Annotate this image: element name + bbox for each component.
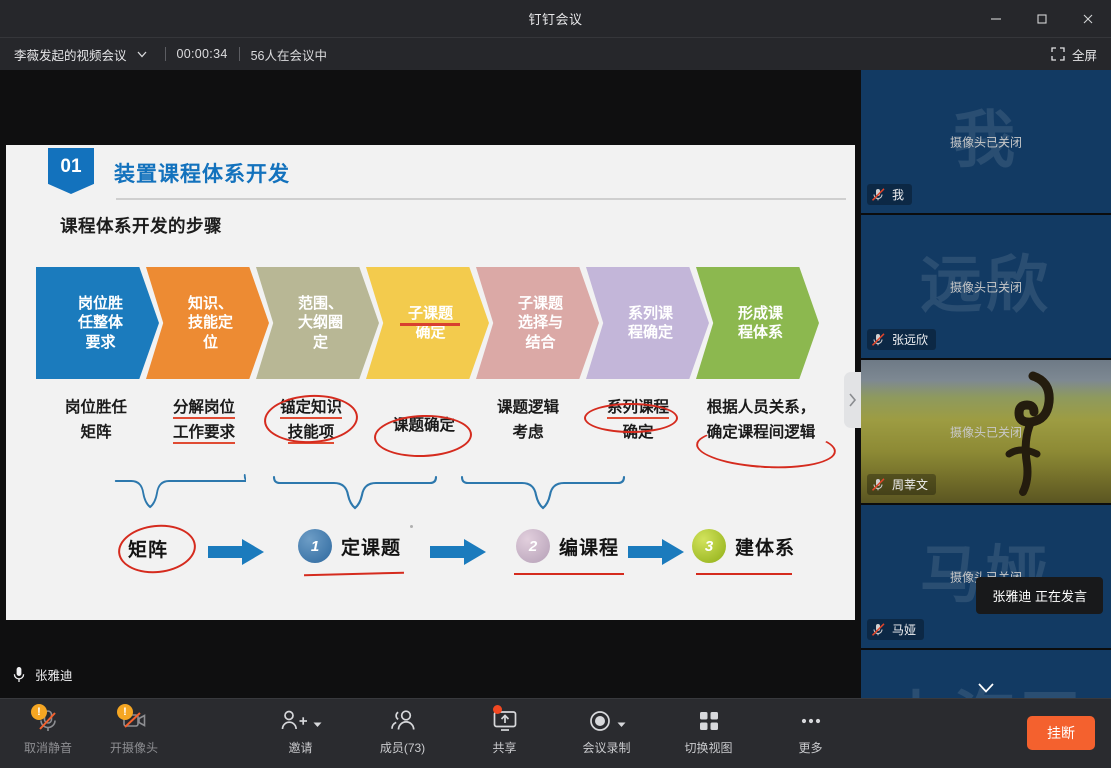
switch-view-button[interactable]: 切换视图 [673,707,745,756]
result-number-badge: 3 [692,529,726,563]
camera-off-label: 摄像头已关闭 [861,133,1111,150]
unmute-button[interactable]: ! 取消静音 [12,707,84,756]
result-item: 3 建体系 [692,529,795,563]
process-step: 子课题选择与结合 [476,267,599,379]
participant-tile[interactable]: 我 摄像头已关闭 我 [861,70,1111,215]
participant-tile[interactable]: 远欣 摄像头已关闭 张远欣 [861,215,1111,360]
process-step-label: 形成课程体系 [732,304,783,342]
process-step-label: 范围、大纲圈定 [292,294,343,352]
minimize-button[interactable] [973,0,1019,38]
title-underline-rule [116,198,846,200]
process-step-label: 系列课程确定 [622,304,673,342]
meeting-timer: 00:00:34 [177,47,228,61]
app-title: 钉钉会议 [528,9,582,28]
slide-header: 01 装置课程体系开发 [48,148,290,194]
process-step: 系列课程确定 [586,267,709,379]
participant-name-chip: 周莘文 [867,474,936,495]
result-label: 定课题 [341,533,401,560]
invite-icon [280,707,322,734]
scroll-down-chevron-icon[interactable] [976,681,996,693]
participant-strip[interactable]: 我 摄像头已关闭 我 远欣 摄像头已关闭 [861,70,1111,698]
process-step: 岗位胜任整体要求 [36,267,159,379]
toolbar-center-group: 邀请 成员(73) [265,707,847,756]
blue-brace-annotation [270,473,440,515]
meeting-name: 李薇发起的视频会议 [14,45,127,64]
step-description-row: 岗位胜任 矩阵 分解岗位 工作要求 锚定知识 技能项 课题确定 课题逻辑 考虑 [6,395,855,475]
toolbar-label: 更多 [798,739,822,756]
hangup-button[interactable]: 挂断 [1027,716,1095,750]
participant-name: 张远欣 [892,331,928,348]
close-button[interactable] [1065,0,1111,38]
blue-brace-annotation [86,473,246,515]
mic-muted-icon [871,332,886,347]
participant-tile[interactable]: 摄像头已关闭 周莘文 [861,360,1111,505]
result-number-badge: 2 [516,529,550,563]
participant-count-text: 56人在会议中 [251,45,327,64]
active-speaker-chip: 张雅迪 [12,665,73,684]
process-step-label: 子课题选择与结合 [512,294,563,352]
more-button[interactable]: 更多 [775,707,847,756]
result-item: 1 定课题 [298,529,401,563]
participant-name-chip: 我 [867,184,912,205]
fullscreen-label: 全屏 [1072,45,1097,64]
presentation-slide: 01 装置课程体系开发 课程体系开发的步骤 岗位胜任整体要求 知识、技能定位 范… [6,145,855,620]
window-controls [973,0,1111,38]
arrow-right-icon [430,539,486,565]
result-label: 建体系 [735,533,795,560]
members-icon [389,707,417,734]
mic-muted-icon [871,187,886,202]
divider [239,47,240,61]
section-number-badge: 01 [48,148,94,194]
result-item: 2 编课程 [516,529,619,563]
process-step-label: 知识、技能定位 [182,294,233,352]
meeting-info-bar: 李薇发起的视频会议 00:00:34 56人在会议中 全屏 [0,38,1111,70]
fullscreen-icon [1051,47,1065,61]
result-label: 编课程 [559,533,619,560]
share-screen-icon [492,707,518,734]
step-description: 根据人员关系， 确定课程间逻辑 [671,395,851,445]
desc-line-2: 确定课程间逻辑 [671,420,851,445]
toolbar-label: 开摄像头 [110,739,158,756]
camera-off-icon: ! [121,707,147,734]
process-step: 范围、大纲圈定 [256,267,379,379]
toolbar-left-group: ! 取消静音 ! 开摄像头 [12,707,170,756]
collapse-panel-handle[interactable] [844,372,861,428]
toolbar-label: 共享 [492,739,516,756]
result-summary-row: 矩阵 1 定课题 2 编课程 [6,517,855,597]
process-step: 知识、技能定位 [146,267,269,379]
notification-dot [493,705,502,714]
share-screen-button[interactable]: 共享 [469,707,541,756]
arrow-right-icon [208,539,264,565]
warning-badge: ! [117,704,133,720]
chevron-down-icon[interactable] [617,716,626,725]
speaking-toast: 张雅迪 正在发言 [976,577,1103,614]
camera-off-label: 摄像头已关闭 [861,278,1111,295]
process-step: 形成课程体系 [696,267,819,379]
chevron-down-icon[interactable] [313,716,322,725]
slide-title: 装置课程体系开发 [114,158,290,188]
participant-name-chip: 马娅 [867,619,924,640]
desc-line-1: 根据人员关系， [671,395,851,420]
red-underline-annotation [400,323,460,326]
arrow-right-icon [628,539,684,565]
maximize-button[interactable] [1019,0,1065,38]
meeting-toolbar: ! 取消静音 ! 开摄像头 [0,698,1111,768]
participant-name: 马娅 [892,621,916,638]
microphone-icon [12,666,26,684]
toolbar-label: 切换视图 [684,739,732,756]
toolbar-label: 会议录制 [582,739,630,756]
title-bar: 钉钉会议 [0,0,1111,38]
divider [165,47,166,61]
record-button[interactable]: 会议录制 [571,707,643,756]
result-number-badge: 1 [298,529,332,563]
invite-button[interactable]: 邀请 [265,707,337,756]
warning-badge: ! [31,704,47,720]
members-button[interactable]: 成员(73) [367,707,439,756]
chevron-down-icon[interactable] [136,48,148,60]
dingtalk-meeting-window: 钉钉会议 李薇发起的视频会议 00:00:34 56人在会议中 [0,0,1111,768]
mic-muted-icon [871,477,886,492]
mic-muted-icon: ! [35,707,61,734]
slide-subtitle: 课程体系开发的步骤 [60,213,222,238]
blue-brace-annotation [458,473,628,515]
toolbar-label: 邀请 [288,739,312,756]
start-camera-button[interactable]: ! 开摄像头 [98,707,170,756]
participant-name: 我 [892,186,904,203]
result-item: 矩阵 [128,535,168,562]
active-speaker-name: 张雅迪 [35,665,73,684]
camera-off-label: 摄像头已关闭 [861,423,1111,440]
fullscreen-button[interactable]: 全屏 [1051,45,1097,64]
mic-muted-icon [871,622,886,637]
result-label: 矩阵 [128,535,168,562]
toolbar-label: 取消静音 [24,739,72,756]
process-step-label: 岗位胜任整体要求 [72,294,123,352]
more-dots-icon [798,707,824,734]
record-icon [588,707,626,734]
participant-name-chip: 张远欣 [867,329,936,350]
shared-content-stage[interactable]: 01 装置课程体系开发 课程体系开发的步骤 岗位胜任整体要求 知识、技能定位 范… [0,70,861,698]
grid-view-icon [697,707,721,734]
toolbar-label: 成员(73) [380,739,425,756]
participant-name: 周莘文 [892,476,928,493]
